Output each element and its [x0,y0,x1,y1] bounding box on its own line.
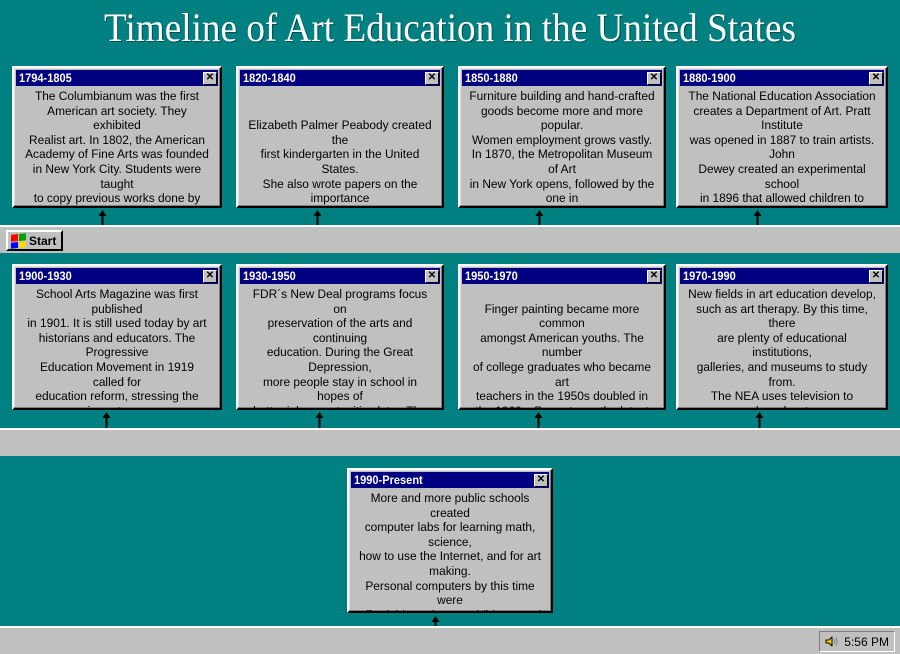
window-title: 1950-1970 [465,269,518,283]
timeline-window[interactable]: 1850-1880 ✕ Furniture building and hand-… [458,66,666,208]
close-icon[interactable]: ✕ [425,72,439,85]
window-body-text: Finger painting became more common among… [464,284,660,410]
system-tray[interactable]: 5:56 PM [819,631,895,652]
window-title: 1794-1805 [19,71,72,85]
timeline-window[interactable]: 1990-Present ✕ More and more public scho… [347,468,553,613]
timeline-window[interactable]: 1794-1805 ✕ The Columbianum was the firs… [12,66,222,208]
window-titlebar[interactable]: 1990-Present ✕ [351,472,549,488]
close-icon[interactable]: ✕ [425,270,439,283]
window-body-text: FDR´s New Deal programs focus on preserv… [242,284,438,410]
close-icon[interactable]: ✕ [869,72,883,85]
desktop: Timeline of Art Education in the United … [0,0,900,654]
timeline-window[interactable]: 1930-1950 ✕ FDR´s New Deal programs focu… [236,264,444,410]
taskbar-middle[interactable] [0,428,900,456]
window-titlebar[interactable]: 1950-1970 ✕ [462,268,662,284]
window-title: 1880-1900 [683,71,736,85]
window-titlebar[interactable]: 1900-1930 ✕ [16,268,218,284]
timeline-window[interactable]: 1880-1900 ✕ The National Education Assoc… [676,66,888,208]
start-button[interactable]: Start [6,230,63,251]
window-body-text: The Columbianum was the first American a… [18,86,216,208]
close-icon[interactable]: ✕ [869,270,883,283]
start-button-label: Start [29,234,56,248]
window-body-text: The National Education Association creat… [682,86,882,208]
speaker-icon[interactable] [825,635,839,648]
window-body-text: Elizabeth Palmer Peabody created the fir… [242,86,438,208]
window-body-text: More and more public schools created com… [353,488,547,613]
timeline-window[interactable]: 1900-1930 ✕ School Arts Magazine was fir… [12,264,222,410]
close-icon[interactable]: ✕ [647,270,661,283]
timeline-window[interactable]: 1820-1840 ✕ Elizabeth Palmer Peabody cre… [236,66,444,208]
window-title: 1970-1990 [683,269,736,283]
close-icon[interactable]: ✕ [647,72,661,85]
window-titlebar[interactable]: 1794-1805 ✕ [16,70,218,86]
window-title: 1990-Present [354,473,423,487]
window-title: 1900-1930 [19,269,72,283]
window-body-text: School Arts Magazine was first published… [18,284,216,410]
timeline-window[interactable]: 1970-1990 ✕ New fields in art education … [676,264,888,410]
timeline-window[interactable]: 1950-1970 ✕ Finger painting became more … [458,264,666,410]
windows-logo-icon [11,233,26,249]
close-icon[interactable]: ✕ [534,474,548,487]
window-body-text: Furniture building and hand-crafted good… [464,86,660,208]
window-titlebar[interactable]: 1970-1990 ✕ [680,268,884,284]
window-titlebar[interactable]: 1930-1950 ✕ [240,268,440,284]
clock-label: 5:56 PM [844,635,889,649]
close-icon[interactable]: ✕ [203,72,217,85]
window-title: 1850-1880 [465,71,518,85]
window-title: 1930-1950 [243,269,296,283]
taskbar-bottom[interactable]: 5:56 PM [0,626,900,654]
window-titlebar[interactable]: 1850-1880 ✕ [462,70,662,86]
page-title: Timeline of Art Education in the United … [32,2,869,54]
taskbar-top[interactable]: Start [0,225,900,253]
window-titlebar[interactable]: 1820-1840 ✕ [240,70,440,86]
close-icon[interactable]: ✕ [203,270,217,283]
window-title: 1820-1840 [243,71,296,85]
window-body-text: New fields in art education develop, suc… [682,284,882,410]
window-titlebar[interactable]: 1880-1900 ✕ [680,70,884,86]
